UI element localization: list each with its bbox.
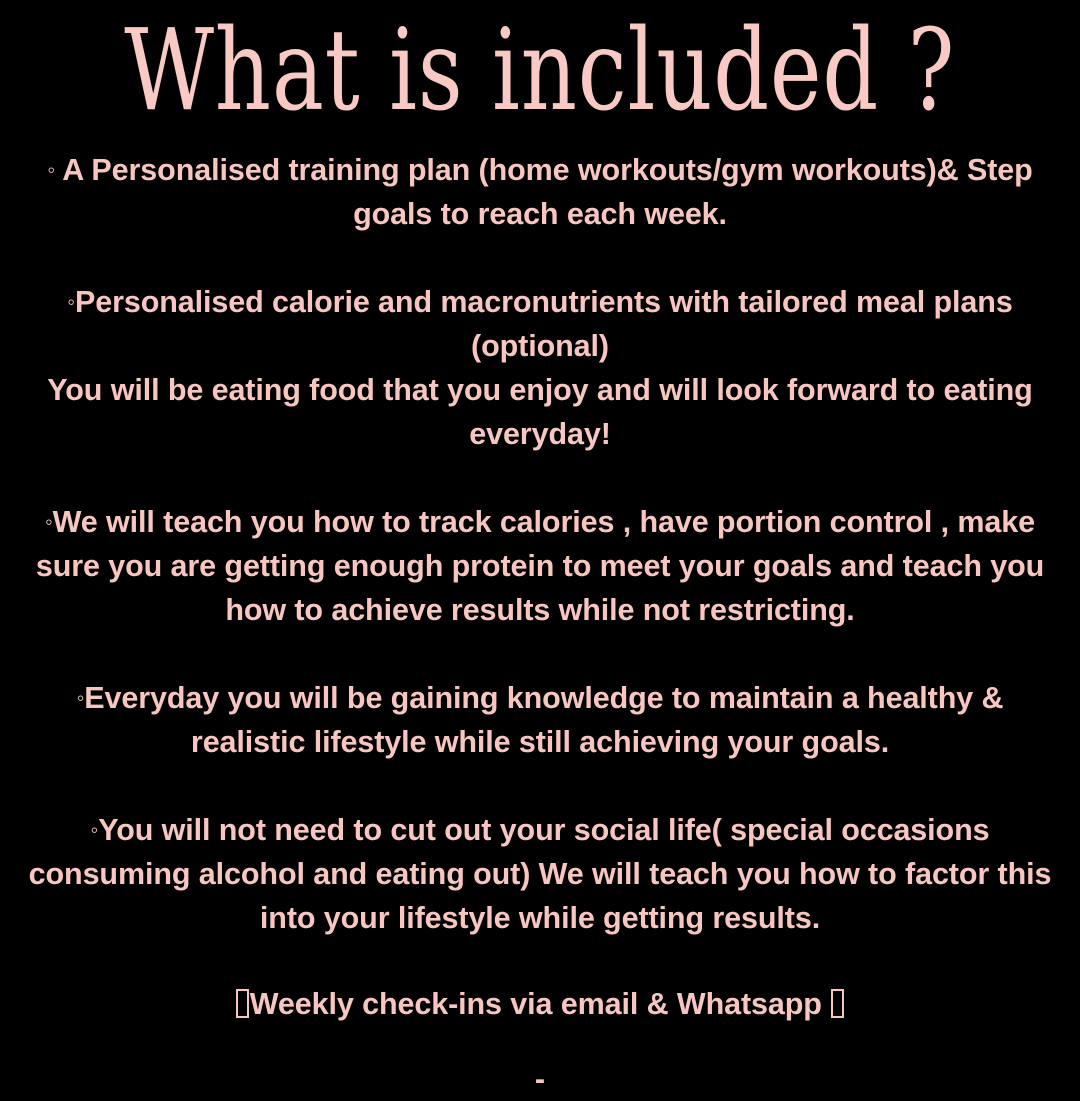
paragraph-spacer — [25, 764, 1055, 808]
paragraph-spacer — [25, 236, 1055, 280]
list-item-track-calories: ◦We will teach you how to track calories… — [25, 500, 1055, 632]
missing-glyph-icon — [236, 989, 249, 1018]
list-item-text: A Personalised training plan (home worko… — [62, 153, 1032, 231]
paragraph-spacer — [25, 632, 1055, 676]
list-item-text: Everyday you will be gaining knowledge t… — [84, 681, 1003, 759]
footer-checkins-line: Weekly check-ins via email & Whatsapp — [25, 982, 1055, 1026]
list-item-training-plan: ◦ A Personalised training plan (home wor… — [25, 148, 1055, 236]
bullet-icon: ◦ — [67, 289, 75, 314]
bullet-icon: ◦ — [47, 157, 55, 182]
list-item-social-life: ◦You will not need to cut out your socia… — [25, 808, 1055, 940]
paragraph-spacer — [25, 456, 1055, 500]
list-item-knowledge-lifestyle: ◦Everyday you will be gaining knowledge … — [25, 676, 1055, 764]
list-item-calories-macros-extra: You will be eating food that you enjoy a… — [25, 368, 1055, 456]
list-item-text: We will teach you how to track calories … — [36, 505, 1044, 627]
content-list: ◦ A Personalised training plan (home wor… — [25, 148, 1055, 1101]
list-item-text: You will not need to cut out your social… — [29, 813, 1052, 935]
list-item-calories-macros: ◦Personalised calorie and macronutrients… — [25, 280, 1055, 368]
title-container: What is included ? — [0, 0, 1080, 148]
missing-glyph-icon — [831, 989, 844, 1018]
footer-dash: - — [25, 1057, 1055, 1101]
poster-canvas: What is included ? ◦ A Personalised trai… — [0, 0, 1080, 1080]
paragraph-spacer — [25, 940, 1055, 982]
footer-checkins-text: Weekly check-ins via email & Whatsapp — [250, 987, 822, 1021]
page-title: What is included ? — [124, 6, 955, 136]
bullet-icon: ◦ — [45, 509, 53, 534]
list-item-text: Personalised calorie and macronutrients … — [75, 285, 1013, 363]
